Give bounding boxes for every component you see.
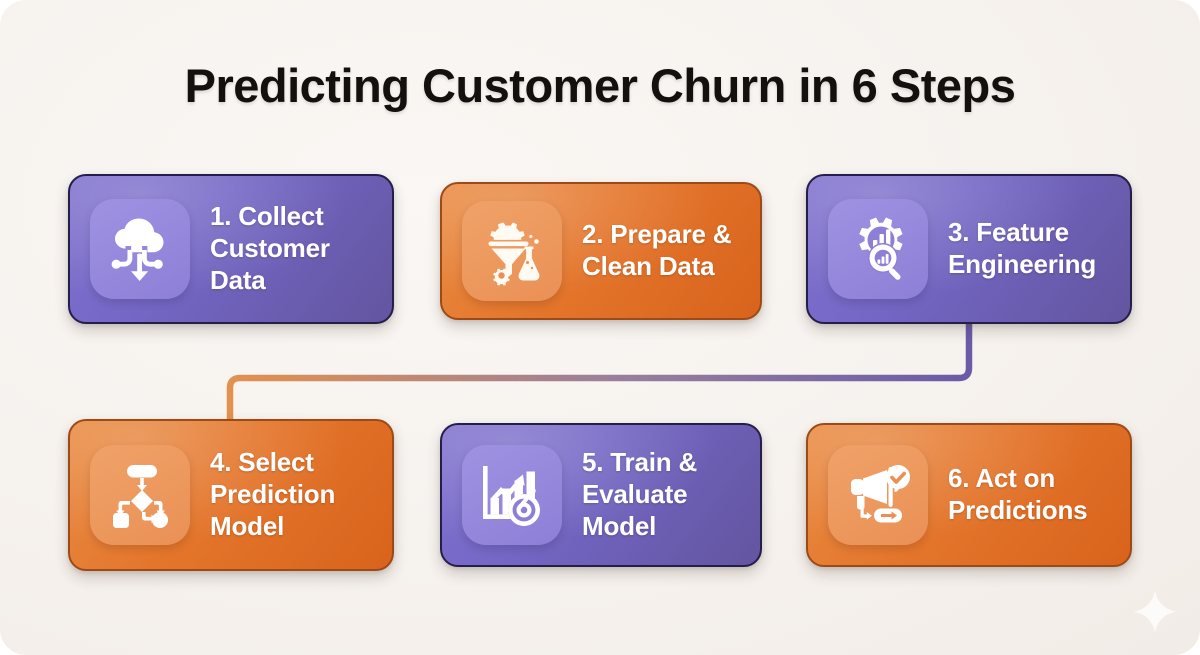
megaphone-check-arrow-icon bbox=[843, 460, 913, 530]
step-2-label: 2. Prepare & Clean Data bbox=[582, 219, 731, 282]
step-card-2[interactable]: 2. Prepare & Clean Data bbox=[440, 182, 762, 320]
funnel-gear-flask-icon bbox=[477, 216, 547, 286]
step-card-5[interactable]: 5. Train & Evaluate Model bbox=[440, 423, 762, 567]
step-1-icon-tile bbox=[90, 199, 190, 299]
step-6-label: 6. Act on Predictions bbox=[948, 463, 1087, 526]
step-card-3[interactable]: 3. Feature Engineering bbox=[806, 174, 1132, 324]
step-5-label: 5. Train & Evaluate Model bbox=[582, 447, 697, 542]
flowchart-decision-icon bbox=[105, 460, 175, 530]
step-2-icon-tile bbox=[462, 201, 562, 301]
infographic-canvas: Predicting Customer Churn in 6 Steps bbox=[0, 0, 1200, 655]
bar-chart-target-icon bbox=[477, 460, 547, 530]
step-card-6[interactable]: 6. Act on Predictions bbox=[806, 423, 1132, 567]
page-title: Predicting Customer Churn in 6 Steps bbox=[0, 58, 1200, 113]
step-5-icon-tile bbox=[462, 445, 562, 545]
step-card-1[interactable]: 1. Collect Customer Data bbox=[68, 174, 394, 324]
step-6-icon-tile bbox=[828, 445, 928, 545]
step-4-icon-tile bbox=[90, 445, 190, 545]
step-1-label: 1. Collect Customer Data bbox=[210, 201, 330, 296]
cloud-data-download-icon bbox=[105, 214, 175, 284]
connector-3-to-4 bbox=[230, 320, 969, 424]
gear-magnifier-chart-icon bbox=[843, 214, 913, 284]
step-card-4[interactable]: 4. Select Prediction Model bbox=[68, 419, 394, 571]
four-point-star-sparkle bbox=[1132, 589, 1178, 635]
step-3-label: 3. Feature Engineering bbox=[948, 217, 1096, 280]
step-3-icon-tile bbox=[828, 199, 928, 299]
step-4-label: 4. Select Prediction Model bbox=[210, 447, 335, 542]
